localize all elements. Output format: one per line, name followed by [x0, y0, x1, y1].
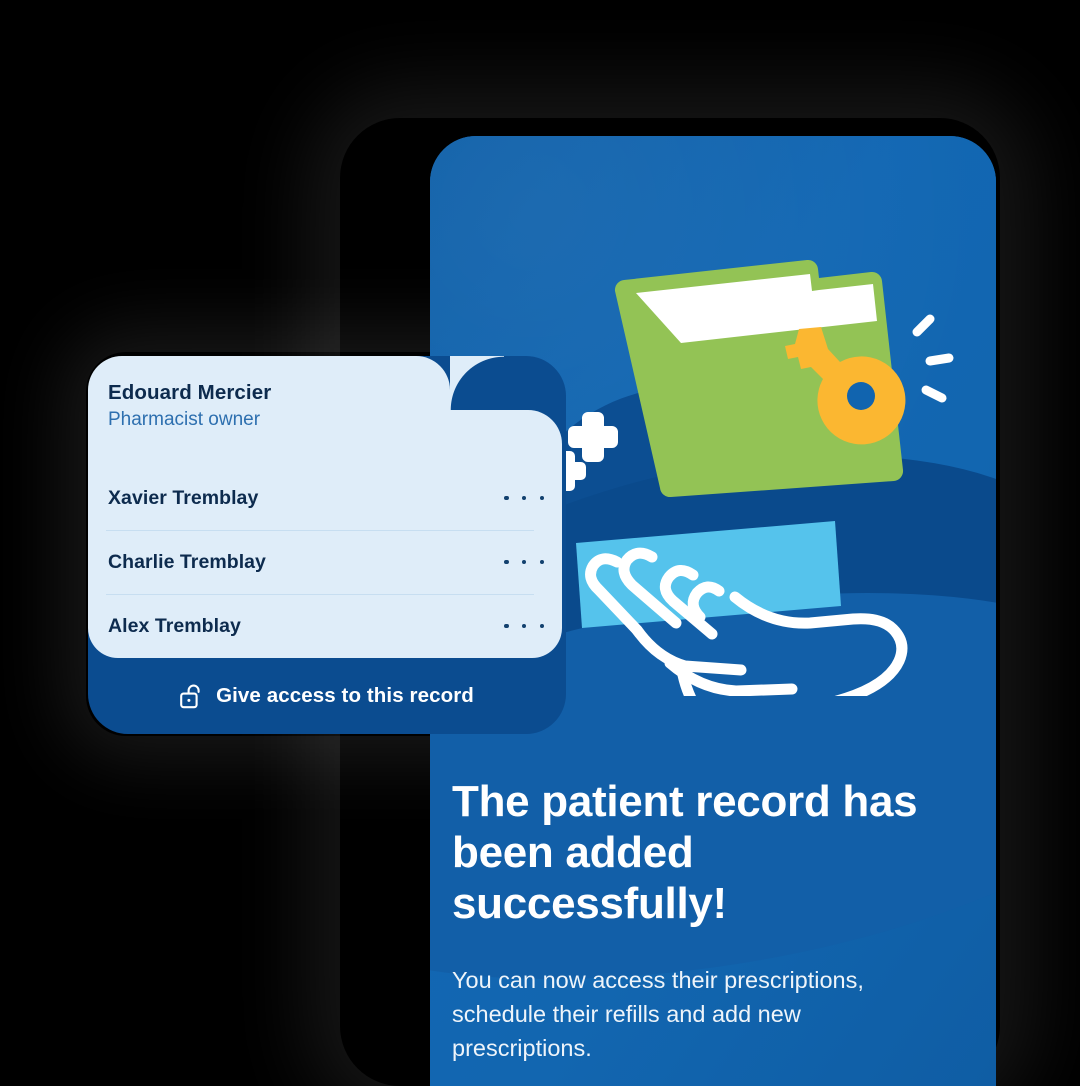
unlocked-padlock-icon: [180, 683, 203, 710]
card-owner-name: Edouard Mercier: [108, 381, 438, 405]
list-item[interactable]: Alex Tremblay: [88, 594, 562, 658]
ellipsis-icon[interactable]: [502, 624, 546, 629]
member-list: Xavier Tremblay Charlie Tremblay Alex Tr…: [88, 466, 562, 658]
success-body-text: You can now access their prescriptions, …: [452, 963, 922, 1065]
screenshot-canvas: The patient record has been added succes…: [0, 0, 1080, 1086]
give-access-button[interactable]: Give access to this record: [88, 658, 566, 734]
member-name: Alex Tremblay: [108, 615, 502, 638]
ellipsis-icon[interactable]: [502, 560, 546, 565]
key-shine-lines-icon: [917, 319, 949, 398]
phone-copy-block: The patient record has been added succes…: [452, 776, 972, 1065]
success-headline: The patient record has been added succes…: [452, 776, 957, 929]
card-owner-role: Pharmacist owner: [108, 409, 438, 431]
record-access-card: Edouard Mercier Pharmacist owner Xavier …: [88, 356, 566, 734]
member-name: Charlie Tremblay: [108, 551, 502, 574]
give-access-label: Give access to this record: [216, 684, 474, 708]
sparkle-plus-large-icon: [568, 412, 618, 462]
member-name: Xavier Tremblay: [108, 487, 502, 510]
ellipsis-icon[interactable]: [502, 496, 546, 501]
card-header-notch-curve: [450, 356, 504, 410]
list-item[interactable]: Charlie Tremblay: [88, 530, 562, 594]
list-item[interactable]: Xavier Tremblay: [88, 466, 562, 530]
card-owner-block: Edouard Mercier Pharmacist owner: [108, 381, 438, 431]
